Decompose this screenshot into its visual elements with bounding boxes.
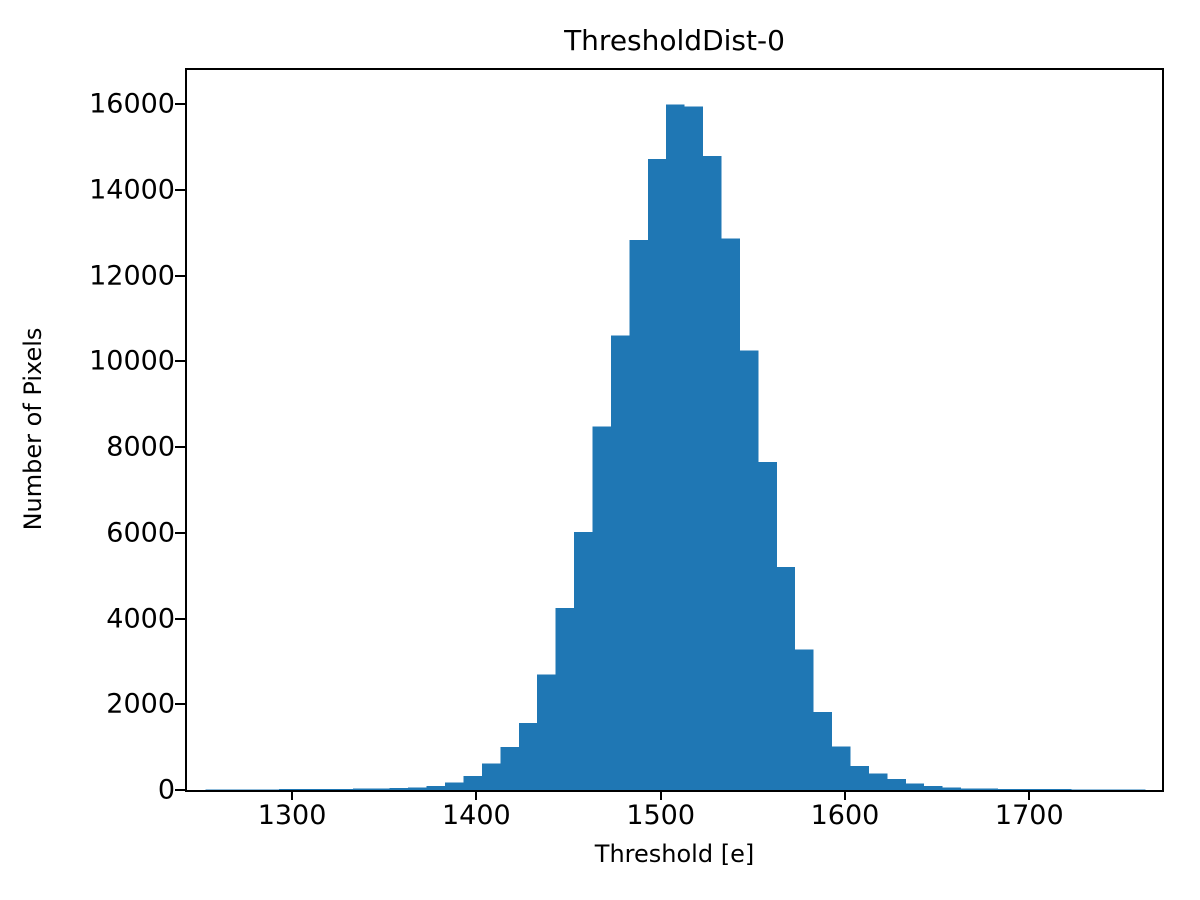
histogram-bar — [758, 462, 776, 790]
plot-area — [187, 70, 1162, 790]
histogram-bar — [685, 106, 703, 790]
histogram-bar — [427, 786, 445, 790]
x-axis-tick-label: 1500 — [626, 802, 695, 829]
histogram-bar — [611, 336, 629, 790]
histogram-bar — [279, 789, 297, 790]
histogram-bar — [814, 712, 832, 790]
histogram-bar — [242, 789, 260, 790]
x-axis-tick-mark — [844, 790, 846, 800]
histogram-bar — [353, 789, 371, 790]
histogram-bar — [924, 786, 942, 790]
x-axis-tick-mark — [1028, 790, 1030, 800]
y-axis-tick-label: 12000 — [89, 262, 175, 289]
histogram-bar — [887, 779, 905, 790]
histogram-bar — [1109, 789, 1127, 790]
histogram-bar — [592, 427, 610, 790]
histogram-bar — [408, 787, 426, 790]
histogram-bar — [869, 774, 887, 790]
x-axis-tick-label: 1300 — [258, 802, 327, 829]
histogram-bar — [703, 156, 721, 790]
y-axis-tick-label: 6000 — [106, 519, 175, 546]
histogram-bar — [390, 788, 408, 790]
histogram-bar — [795, 649, 813, 790]
histogram-bar — [316, 789, 334, 790]
page-title: ThresholdDist-0 — [185, 24, 1164, 58]
histogram-bar — [648, 159, 666, 790]
histogram-bar — [334, 789, 352, 790]
y-axis-tick-mark — [175, 618, 185, 620]
histogram-bar — [556, 608, 574, 790]
y-axis-tick-label: 14000 — [89, 177, 175, 204]
y-axis-label: Number of Pixels — [19, 229, 47, 629]
x-axis-tick-mark — [475, 790, 477, 800]
histogram-bar — [574, 532, 592, 790]
y-axis-tick-mark — [175, 703, 185, 705]
y-axis-tick-mark — [175, 360, 185, 362]
histogram-bar — [906, 784, 924, 790]
histogram-bar — [851, 766, 869, 790]
y-axis-tick-mark — [175, 275, 185, 277]
histogram-bar — [1016, 789, 1034, 790]
y-axis-tick-mark — [175, 532, 185, 534]
histogram-bar — [980, 789, 998, 790]
histogram-bar — [298, 789, 316, 790]
histogram-bar — [500, 747, 518, 790]
histogram-bar — [777, 567, 795, 790]
histogram-bar — [666, 104, 684, 790]
histogram-bar — [261, 789, 279, 790]
y-axis-tick-mark — [175, 446, 185, 448]
y-axis-tick-mark — [175, 789, 185, 791]
histogram-bar — [832, 746, 850, 790]
histogram-bars — [187, 70, 1162, 790]
histogram-bar — [445, 783, 463, 790]
histogram-bar — [740, 351, 758, 790]
y-axis-tick-label: 16000 — [89, 91, 175, 118]
x-axis-tick-label: 1600 — [811, 802, 880, 829]
y-axis-tick-label: 4000 — [106, 605, 175, 632]
histogram-bar — [1053, 789, 1071, 790]
histogram-bar — [519, 723, 537, 790]
y-axis-tick-label: 10000 — [89, 348, 175, 375]
y-axis-tick-mark — [175, 189, 185, 191]
matplotlib-figure: ThresholdDist-0 020004000600080001000012… — [0, 0, 1200, 900]
histogram-bar — [722, 238, 740, 790]
histogram-bar — [371, 789, 389, 791]
histogram-bar — [463, 776, 481, 790]
histogram-bar — [961, 788, 979, 790]
y-axis-tick-mark — [175, 103, 185, 105]
histogram-bar — [1090, 789, 1108, 790]
histogram-bar — [1072, 789, 1090, 790]
histogram-bar — [482, 763, 500, 790]
histogram-bar — [998, 789, 1016, 790]
y-axis-tick-label: 2000 — [106, 691, 175, 718]
histogram-bar — [629, 240, 647, 790]
x-axis-tick-mark — [291, 790, 293, 800]
histogram-bar — [943, 788, 961, 790]
y-axis-tick-label: 0 — [158, 777, 175, 804]
x-axis-tick-label: 1400 — [442, 802, 511, 829]
histogram-bar — [537, 674, 555, 790]
x-axis-tick-mark — [660, 790, 662, 800]
x-axis-label: Threshold [e] — [185, 840, 1164, 868]
y-axis-tick-label: 8000 — [106, 434, 175, 461]
histogram-bar — [1035, 789, 1053, 790]
x-axis-tick-label: 1700 — [995, 802, 1064, 829]
